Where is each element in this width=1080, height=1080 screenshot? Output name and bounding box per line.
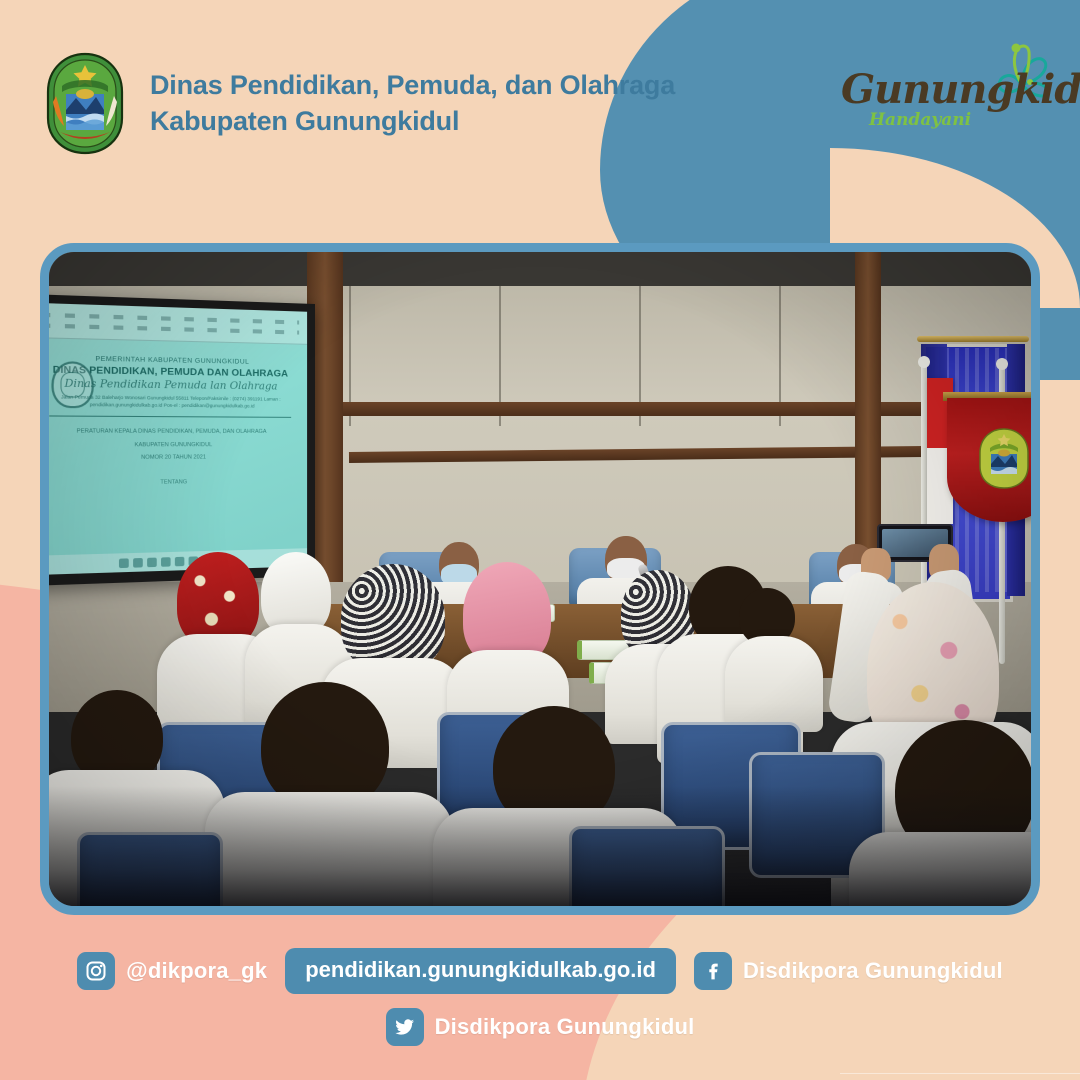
poster-header: Dinas Pendidikan, Pemuda, dan Olahraga K… — [42, 52, 675, 156]
slide-body2: KABUPATEN GUNUNGKIDUL — [49, 439, 295, 452]
facebook-icon[interactable] — [694, 952, 732, 990]
pennant-crest-icon — [977, 428, 1031, 490]
header-title-line2: Kabupaten Gunungkidul — [150, 104, 675, 140]
slide-body3: NOMOR 20 TAHUN 2021 — [49, 451, 295, 465]
projector-screen: PEMERINTAH KABUPATEN GUNUNGKIDUL DINAS P… — [49, 303, 307, 576]
footer-row-primary: @dikpora_gk pendidikan.gunungkidulkab.go… — [77, 948, 1003, 994]
gunungkidul-brand-logo: Gunungkidul Handayani — [841, 44, 1056, 152]
instagram-link[interactable]: @dikpora_gk — [77, 952, 267, 990]
event-photo: PEMERINTAH KABUPATEN GUNUNGKIDUL DINAS P… — [49, 252, 1031, 906]
facebook-link[interactable]: Disdikpora Gunungkidul — [694, 952, 1003, 990]
twitter-icon[interactable] — [386, 1008, 424, 1046]
slide-divider — [49, 415, 291, 418]
gunungkidul-regency-crest-icon — [42, 52, 128, 156]
poster-footer: @dikpora_gk pendidikan.gunungkidulkab.go… — [0, 948, 1080, 1046]
social-media-poster: Dinas Pendidikan, Pemuda, dan Olahraga K… — [0, 0, 1080, 1080]
event-photo-card: PEMERINTAH KABUPATEN GUNUNGKIDUL DINAS P… — [40, 243, 1040, 915]
flagpole-knob — [918, 356, 930, 368]
brand-tagline: Handayani — [869, 110, 971, 130]
audience-chair — [77, 832, 223, 906]
instagram-icon[interactable] — [77, 952, 115, 990]
page-title: Dinas Pendidikan, Pemuda, dan Olahraga K… — [150, 68, 675, 139]
website-url[interactable]: pendidikan.gunungkidulkab.go.id — [285, 948, 676, 994]
slide-app-toolbar — [49, 303, 307, 345]
twitter-name: Disdikpora Gunungkidul — [435, 1014, 695, 1040]
slide-line4: Jalan Pemuda 32 Baleharjo Wonosari Gunun… — [49, 394, 295, 411]
background-hairline — [840, 1073, 1080, 1074]
slide-content: PEMERINTAH KABUPATEN GUNUNGKIDUL DINAS P… — [49, 346, 295, 543]
flagpole-knob — [996, 358, 1008, 370]
brand-wordmark: Gunungkidul — [841, 66, 1080, 113]
slide-body4: TENTANG — [49, 478, 295, 487]
header-title-line1: Dinas Pendidikan, Pemuda, dan Olahraga — [150, 70, 675, 100]
projector-screen-frame: PEMERINTAH KABUPATEN GUNUNGKIDUL DINAS P… — [49, 294, 315, 586]
curtain-rod — [917, 336, 1029, 342]
audience-chair — [569, 826, 725, 906]
instagram-handle: @dikpora_gk — [126, 958, 267, 984]
facebook-name: Disdikpora Gunungkidul — [743, 958, 1003, 984]
twitter-link[interactable]: Disdikpora Gunungkidul — [386, 1008, 695, 1046]
room-ceiling-strip — [49, 252, 1031, 286]
footer-row-secondary: Disdikpora Gunungkidul — [386, 1008, 695, 1046]
slide-body1: PERATURAN KEPALA DINAS PENDIDIKAN, PEMUD… — [49, 425, 295, 438]
